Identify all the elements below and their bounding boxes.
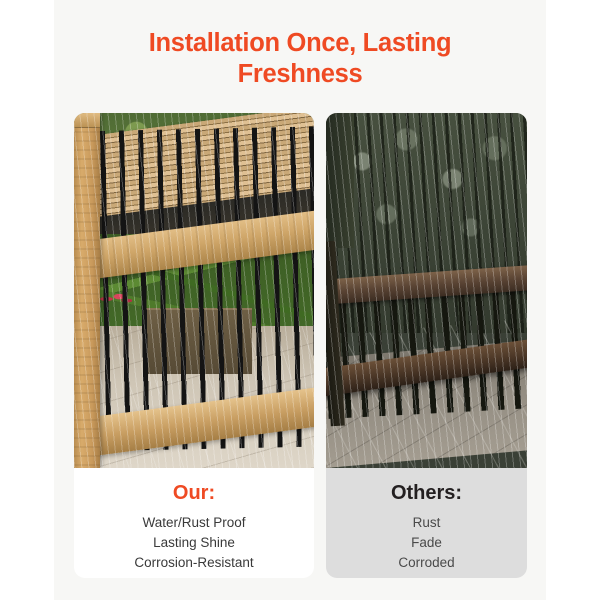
ours-feature-3: Corrosion-Resistant <box>74 553 314 573</box>
comparison-cards: Our: Water/Rust Proof Lasting Shine Corr… <box>74 113 527 578</box>
ours-feature-2: Lasting Shine <box>74 533 314 553</box>
product-comparison-graphic: Installation Once, Lasting Freshness <box>0 0 600 600</box>
headline-line-1: Installation Once, Lasting <box>149 29 452 57</box>
ours-feature-1: Water/Rust Proof <box>74 513 314 533</box>
ours-photo-rain-streaks <box>74 113 314 468</box>
others-issue-1: Rust <box>326 513 527 533</box>
headline-line-2: Freshness <box>54 59 546 90</box>
page-title: Installation Once, Lasting Freshness <box>54 28 546 90</box>
others-text-block: Others: Rust Fade Corroded <box>326 468 527 578</box>
others-issue-3: Corroded <box>326 553 527 573</box>
others-card: Others: Rust Fade Corroded <box>326 113 527 578</box>
others-title: Others: <box>326 480 527 506</box>
ours-photo <box>74 113 314 468</box>
ours-card: Our: Water/Rust Proof Lasting Shine Corr… <box>74 113 314 578</box>
others-issue-2: Fade <box>326 533 527 553</box>
others-photo <box>326 113 527 468</box>
ours-title: Our: <box>74 480 314 506</box>
ours-text-block: Our: Water/Rust Proof Lasting Shine Corr… <box>74 468 314 578</box>
others-photo-rain-streaks <box>326 113 527 468</box>
